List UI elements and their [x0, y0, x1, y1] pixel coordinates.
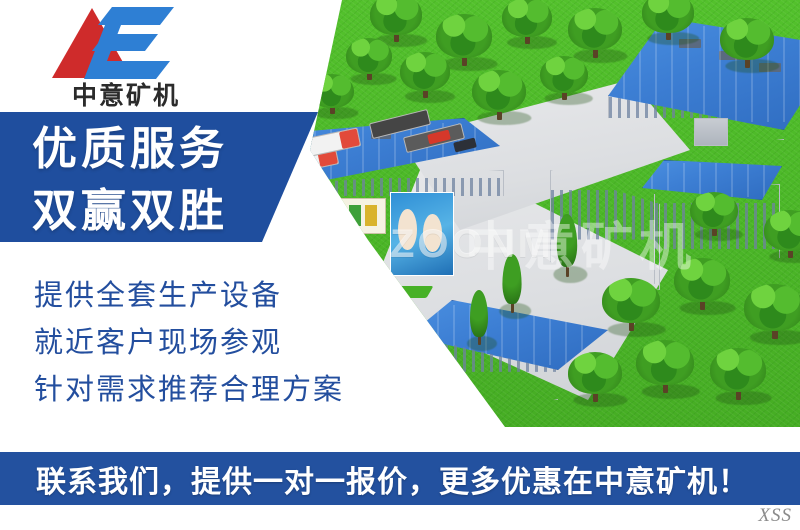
tree-conifer: [496, 254, 528, 318]
benefit-item: 针对需求推荐合理方案: [34, 366, 424, 413]
cta-text: 联系我们，提供一对一报价，更多优惠在中意矿机！: [36, 457, 749, 501]
product-poster-wall: [390, 192, 454, 276]
tree: [636, 340, 694, 398]
tree: [400, 52, 450, 102]
tree: [602, 278, 660, 336]
tree: [540, 56, 588, 104]
tree: [502, 0, 552, 48]
brand-name: 中意矿机: [56, 76, 196, 112]
brand-logo: 中意矿机: [48, 4, 198, 109]
cta-banner[interactable]: 联系我们，提供一对一报价，更多优惠在中意矿机！: [0, 452, 800, 505]
tree: [764, 210, 800, 262]
tree: [744, 284, 800, 344]
tree: [472, 70, 526, 124]
headline-line-1: 优质服务: [32, 112, 330, 180]
tree: [690, 192, 738, 240]
tree: [720, 18, 774, 72]
tree: [642, 0, 694, 44]
tree: [710, 348, 766, 404]
footer-watermark: XSS: [758, 505, 792, 527]
headline-line-2: 双赢双胜: [32, 180, 330, 242]
benefit-item: 就近客户现场参观: [34, 319, 424, 366]
tree-conifer: [550, 214, 584, 282]
benefit-list: 提供全套生产设备 就近客户现场参观 针对需求推荐合理方案: [34, 272, 424, 413]
exhibit-signboard: [308, 198, 386, 234]
tree: [674, 258, 730, 314]
triangle-e-logo-icon: [48, 4, 198, 82]
tree: [310, 74, 354, 118]
headline-panel: 优质服务 双赢双胜: [0, 112, 330, 242]
tree: [568, 352, 622, 406]
tree-conifer: [464, 290, 494, 350]
promo-banner: ZOONM 中意矿机 中意矿机 优质服务 双赢双胜 提供全套生产设备 就近客户现…: [0, 0, 800, 530]
benefit-item: 提供全套生产设备: [34, 272, 424, 319]
tree: [568, 8, 622, 62]
